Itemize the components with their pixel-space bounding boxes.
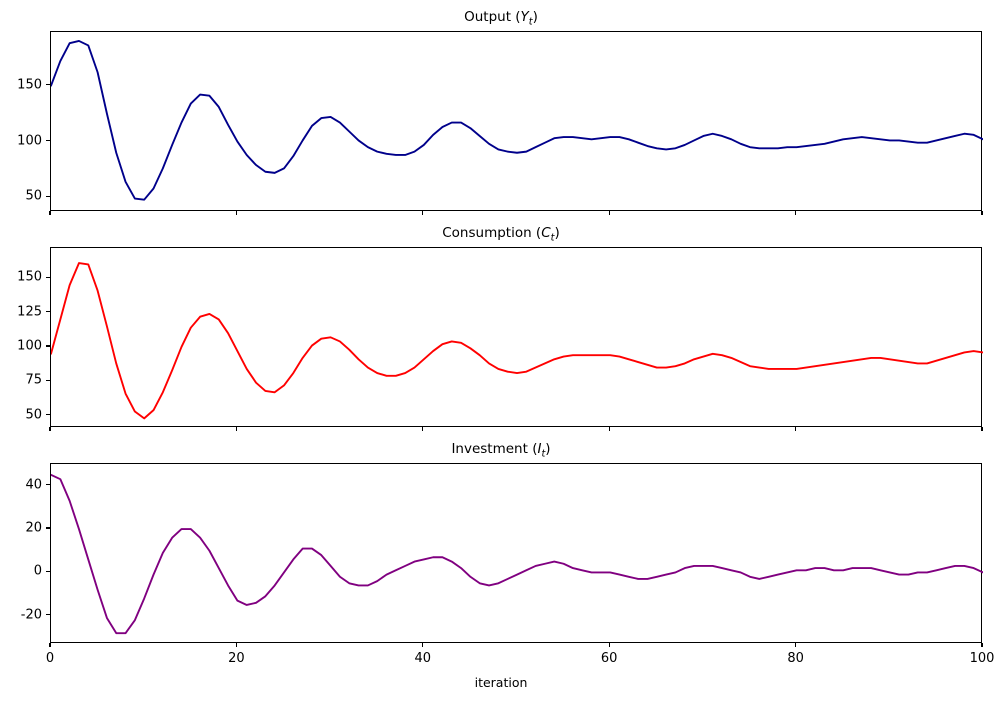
xtick-mark	[49, 211, 50, 215]
ytick-mark	[46, 345, 50, 346]
xtick-label: 20	[228, 651, 245, 666]
data-series-path	[51, 41, 983, 200]
panel-title-3: Investment (It)	[0, 441, 1002, 463]
xtick-mark	[609, 427, 610, 431]
ytick-mark	[46, 380, 50, 381]
ytick-label: 50	[0, 189, 42, 204]
xtick-label: 0	[46, 651, 54, 666]
plot-area-1	[50, 31, 982, 211]
xtick-mark	[795, 211, 796, 215]
xtick-mark	[981, 427, 982, 431]
ytick-label: 150	[0, 77, 42, 92]
panel-title-suffix: )	[554, 225, 559, 241]
panel-title-suffix: )	[545, 441, 550, 457]
ytick-label: 50	[0, 407, 42, 422]
xtick-label: 100	[970, 651, 995, 666]
data-series-path	[51, 475, 983, 633]
ytick-mark	[46, 84, 50, 85]
x-axis-label: iteration	[0, 675, 1002, 690]
xtick-mark	[609, 643, 610, 647]
ytick-label: 125	[0, 304, 42, 319]
xtick-label: 40	[415, 651, 432, 666]
plot-area-2	[50, 247, 982, 427]
xtick-mark	[422, 643, 423, 647]
ytick-label: 75	[0, 373, 42, 388]
ytick-mark	[46, 140, 50, 141]
series-line-3	[51, 464, 983, 644]
xtick-mark	[981, 643, 982, 647]
ytick-label: -20	[0, 607, 42, 622]
ytick-label: 40	[0, 477, 42, 492]
panel-title-suffix: )	[533, 9, 538, 25]
xtick-mark	[422, 211, 423, 215]
panel-title-variable: Y	[521, 9, 529, 25]
xtick-label: 80	[787, 651, 804, 666]
ytick-label: 100	[0, 338, 42, 353]
ytick-mark	[46, 277, 50, 278]
ytick-mark	[46, 414, 50, 415]
plot-area-3	[50, 463, 982, 643]
ytick-mark	[46, 614, 50, 615]
ytick-label: 20	[0, 521, 42, 536]
xtick-label: 60	[601, 651, 618, 666]
ytick-label: 150	[0, 270, 42, 285]
ytick-mark	[46, 527, 50, 528]
figure-canvas: Output (Yt)50100150Consumption (Ct)50751…	[0, 0, 1002, 701]
xtick-mark	[49, 643, 50, 647]
panel-title-2: Consumption (Ct)	[0, 225, 1002, 247]
xtick-mark	[795, 643, 796, 647]
ytick-mark	[46, 196, 50, 197]
panel-title-variable: C	[541, 225, 550, 241]
ytick-mark	[46, 571, 50, 572]
xtick-mark	[236, 427, 237, 431]
xtick-mark	[236, 643, 237, 647]
panel-title-prefix: Output (	[464, 9, 520, 25]
series-line-1	[51, 32, 983, 212]
xtick-mark	[236, 211, 237, 215]
xtick-mark	[981, 211, 982, 215]
panel-title-prefix: Investment (	[451, 441, 537, 457]
xtick-mark	[609, 211, 610, 215]
xtick-mark	[49, 427, 50, 431]
series-line-2	[51, 248, 983, 428]
ytick-label: 0	[0, 564, 42, 579]
ytick-mark	[46, 484, 50, 485]
xtick-mark	[795, 427, 796, 431]
panel-title-1: Output (Yt)	[0, 9, 1002, 31]
ytick-mark	[46, 311, 50, 312]
xtick-mark	[422, 427, 423, 431]
ytick-label: 100	[0, 133, 42, 148]
data-series-path	[51, 263, 983, 418]
panel-title-prefix: Consumption (	[442, 225, 541, 241]
